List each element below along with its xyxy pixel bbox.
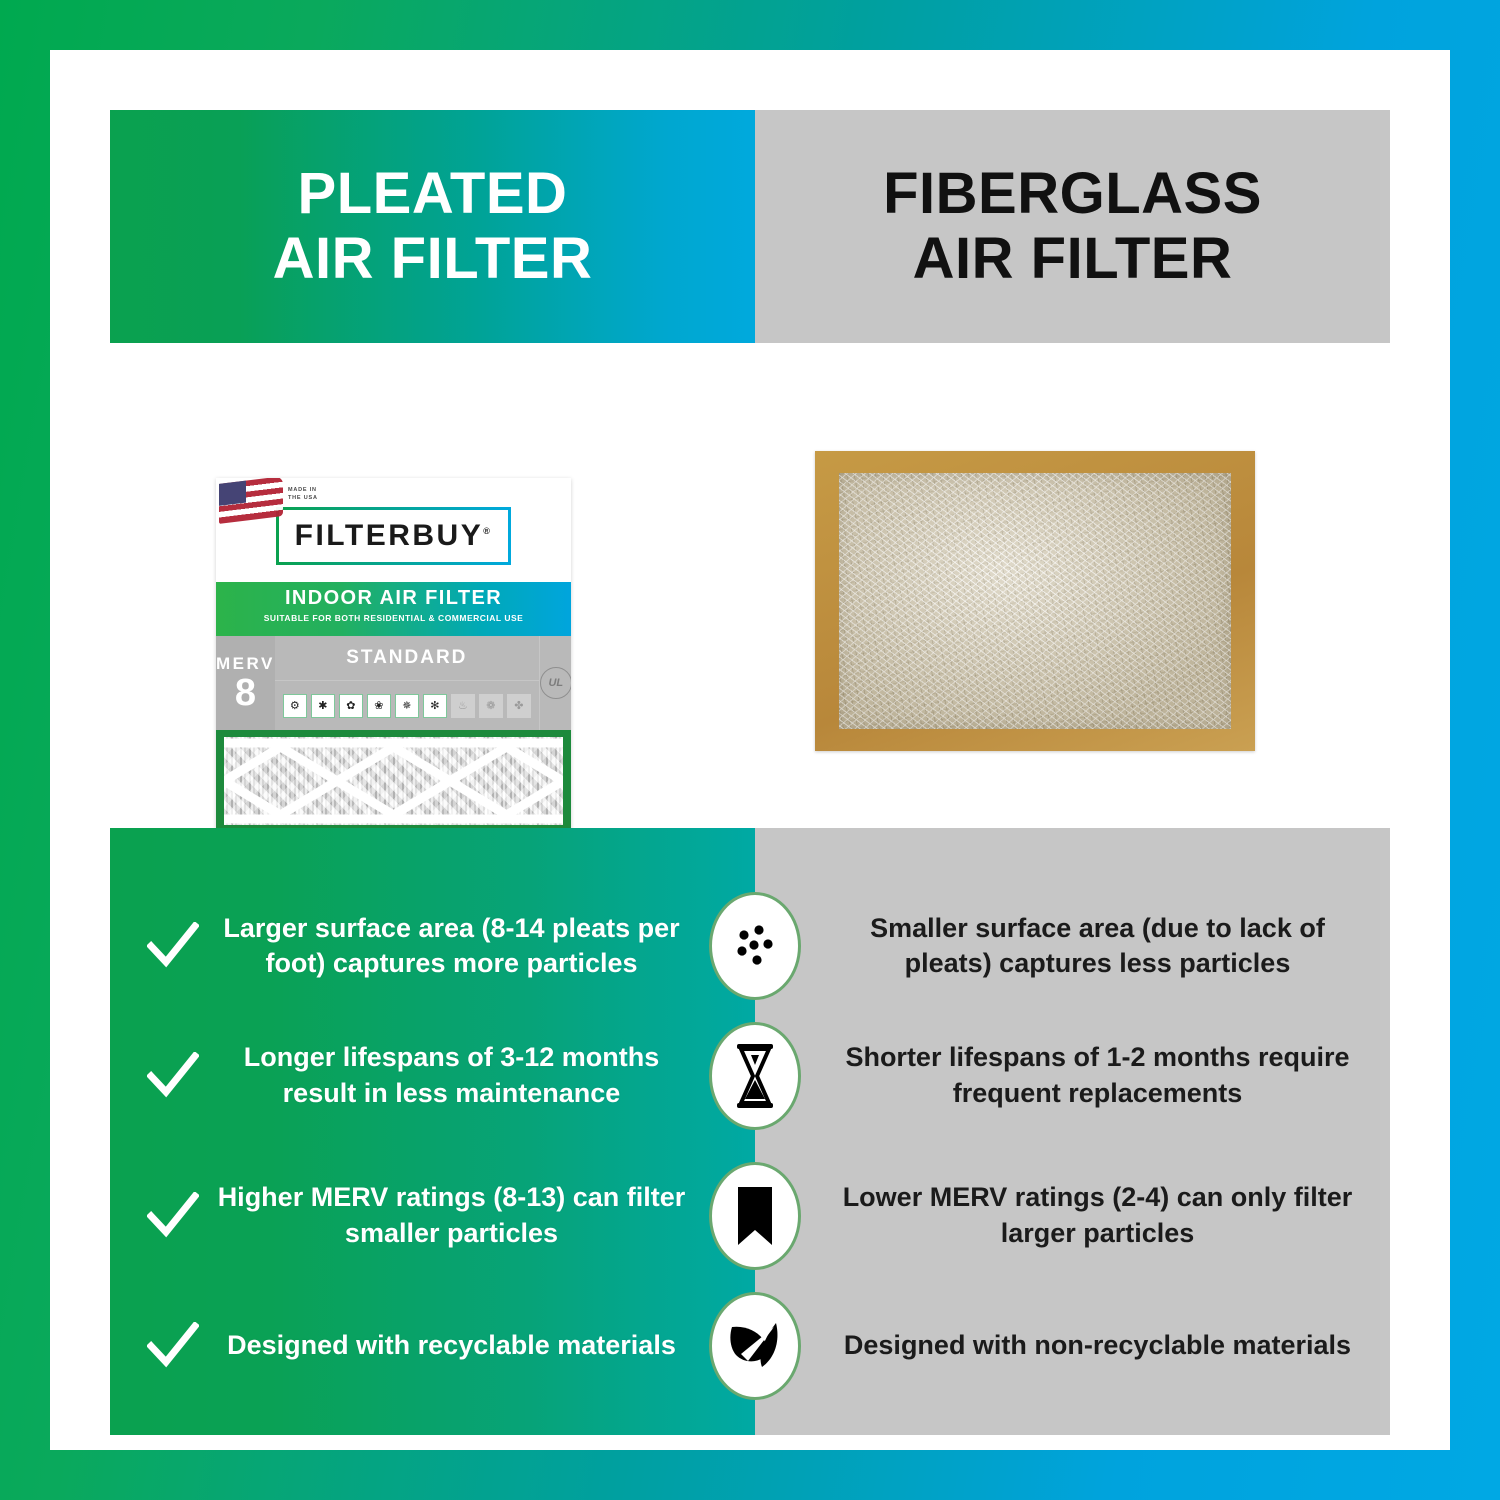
checkmark-icon [136, 1192, 210, 1240]
product-banner-title: INDOOR AIR FILTER [216, 587, 571, 610]
particles-icon [709, 892, 801, 1000]
fiberglass-drawback-text: Shorter lifespans of 1-2 months require … [841, 1040, 1390, 1110]
brand-logo-text: FILTERBUY® [295, 519, 493, 553]
pleated-product-cell: MADE IN THE USA FILTERBUY® INDOOR AIR FI… [110, 343, 755, 828]
product-grade-cell: STANDARD ⚙✱✿❀✵✻♨❁✤ [275, 636, 539, 730]
pet-dander-icon: ✻ [423, 694, 447, 718]
product-box-header: MADE IN THE USA FILTERBUY® [216, 478, 571, 582]
fiberglass-drawback-text: Designed with non-recyclable materials [841, 1328, 1390, 1363]
comparison-row: Higher MERV ratings (8-13) can filter sm… [110, 1153, 1390, 1278]
brand-name: FILTERBUY [295, 519, 484, 552]
comparison-icon-slot [707, 1020, 803, 1132]
product-spec-band: MERV 8 STANDARD ⚙✱✿❀✵✻♨❁✤ UL [216, 636, 571, 730]
header-fiberglass-line1: FIBERGLASS [883, 161, 1262, 226]
pleated-benefit-text: Higher MERV ratings (8-13) can filter sm… [210, 1180, 755, 1250]
header-pleated-line2: AIR FILTER [273, 227, 593, 292]
bookmark-icon [709, 1162, 801, 1270]
header-pleated-panel: PLEATED AIR FILTER [110, 110, 755, 343]
vacuum-icon: ⚙ [283, 694, 307, 718]
fiberglass-drawback-cell: Designed with non-recyclable materials [755, 1328, 1390, 1363]
pleated-benefit-cell: Designed with recyclable materials [110, 1322, 755, 1370]
comparison-rows: Larger surface area (8-14 pleats per foo… [110, 828, 1390, 1435]
lint-icon: ✵ [395, 694, 419, 718]
checkmark-icon [136, 1052, 210, 1100]
made-in-line2: THE USA [288, 494, 318, 502]
pleated-benefit-cell: Longer lifespans of 3-12 months result i… [110, 1040, 755, 1110]
pleated-benefit-cell: Higher MERV ratings (8-13) can filter sm… [110, 1180, 755, 1250]
fiberglass-drawback-text: Smaller surface area (due to lack of ple… [841, 911, 1390, 981]
page-canvas: PLEATED AIR FILTER FIBERGLASS AIR FILTER [50, 50, 1450, 1450]
comparison-row: Longer lifespans of 3-12 months result i… [110, 1013, 1390, 1138]
merv-label: MERV [216, 654, 275, 674]
pollen-icon: ✿ [339, 694, 363, 718]
usa-flag-icon [219, 478, 283, 524]
infographic-body: PLEATED AIR FILTER FIBERGLASS AIR FILTER [110, 110, 1390, 1390]
fiberglass-product-cell [755, 343, 1390, 828]
ul-certification-icon: UL [540, 667, 571, 699]
pleated-benefit-text: Designed with recyclable materials [210, 1328, 755, 1363]
fiberglass-drawback-cell: Shorter lifespans of 1-2 months require … [755, 1040, 1390, 1110]
wire-support-grid-icon [224, 737, 563, 825]
brand-logo-frame: FILTERBUY® [276, 507, 512, 565]
product-banner: INDOOR AIR FILTER SUITABLE FOR BOTH RESI… [216, 582, 571, 636]
bacteria-icon: ❁ [479, 694, 503, 718]
comparison-icon-slot [707, 1160, 803, 1272]
pleated-benefit-text: Larger surface area (8-14 pleats per foo… [210, 911, 755, 981]
virus-icon: ✤ [507, 694, 531, 718]
capability-icon-row: ⚙✱✿❀✵✻♨❁✤ [275, 681, 539, 730]
header-pleated-title: PLEATED AIR FILTER [273, 162, 593, 292]
dust-mite-icon: ✱ [311, 694, 335, 718]
header-fiberglass-title: FIBERGLASS AIR FILTER [883, 162, 1262, 292]
certification-cell: UL [539, 636, 571, 730]
comparison-row: Larger surface area (8-14 pleats per foo… [110, 866, 1390, 1026]
made-in-line1: MADE IN [288, 486, 318, 494]
fiberglass-filter-image [815, 451, 1255, 751]
fiberglass-drawback-cell: Lower MERV ratings (2-4) can only filter… [755, 1180, 1390, 1250]
hourglass-icon [709, 1022, 801, 1130]
mold-icon: ❀ [367, 694, 391, 718]
header-band: PLEATED AIR FILTER FIBERGLASS AIR FILTER [110, 110, 1390, 343]
header-fiberglass-panel: FIBERGLASS AIR FILTER [755, 110, 1390, 343]
made-in-usa-label: MADE IN THE USA [288, 486, 318, 503]
trademark-symbol: ® [483, 526, 492, 536]
smoke-icon: ♨ [451, 694, 475, 718]
product-image-strip: MADE IN THE USA FILTERBUY® INDOOR AIR FI… [110, 343, 1390, 828]
merv-rating-cell: MERV 8 [216, 636, 275, 730]
pleated-benefit-cell: Larger surface area (8-14 pleats per foo… [110, 911, 755, 981]
comparison-icon-slot [707, 1290, 803, 1402]
pleated-benefit-text: Longer lifespans of 3-12 months result i… [210, 1040, 755, 1110]
product-banner-subtitle: SUITABLE FOR BOTH RESIDENTIAL & COMMERCI… [216, 613, 571, 623]
filterbuy-product-box: MADE IN THE USA FILTERBUY® INDOOR AIR FI… [216, 478, 571, 853]
merv-value: 8 [235, 674, 256, 712]
comparison-row: Designed with recyclable materialsDesign… [110, 1283, 1390, 1408]
header-pleated-line1: PLEATED [298, 161, 568, 226]
fiberglass-drawback-text: Lower MERV ratings (2-4) can only filter… [841, 1180, 1390, 1250]
fiberglass-media-texture [839, 473, 1231, 729]
comparison-icon-slot [707, 890, 803, 1002]
pleat-texture [224, 737, 563, 825]
leaf-recycle-icon [709, 1292, 801, 1400]
checkmark-icon [136, 922, 210, 970]
product-grade-label: STANDARD [275, 636, 539, 681]
fiberglass-drawback-cell: Smaller surface area (due to lack of ple… [755, 911, 1390, 981]
outer-gradient-frame: PLEATED AIR FILTER FIBERGLASS AIR FILTER [0, 0, 1500, 1500]
header-fiberglass-line2: AIR FILTER [883, 227, 1262, 292]
checkmark-icon [136, 1322, 210, 1370]
